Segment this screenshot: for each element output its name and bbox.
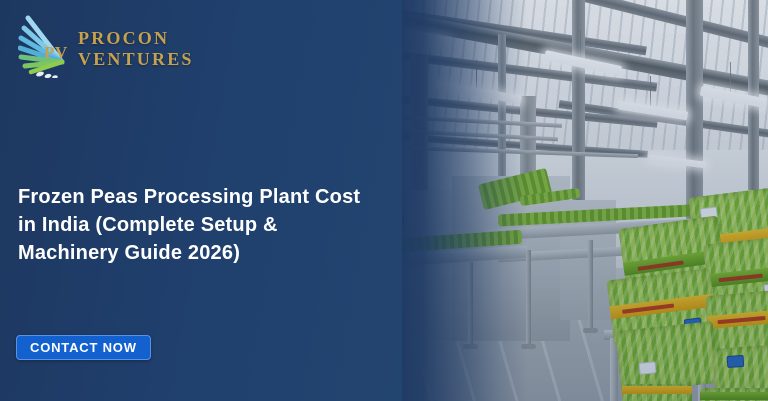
brand-name-line1: PROCON (78, 28, 194, 49)
wing-leaf-logo-icon: PV (18, 10, 80, 78)
svg-text:PV: PV (44, 43, 68, 62)
brand-logo[interactable]: PV PROCON VENTURES (18, 8, 203, 82)
contact-now-button[interactable]: CONTACT NOW (16, 335, 151, 360)
hero-photo (348, 0, 768, 401)
brand-wordmark: PROCON VENTURES (78, 28, 194, 70)
hero-banner: PV PROCON VENTURES Frozen Peas Processin… (0, 0, 768, 401)
page-title: Frozen Peas Processing Plant Cost in Ind… (18, 183, 378, 267)
brand-name-line2: VENTURES (78, 49, 194, 70)
